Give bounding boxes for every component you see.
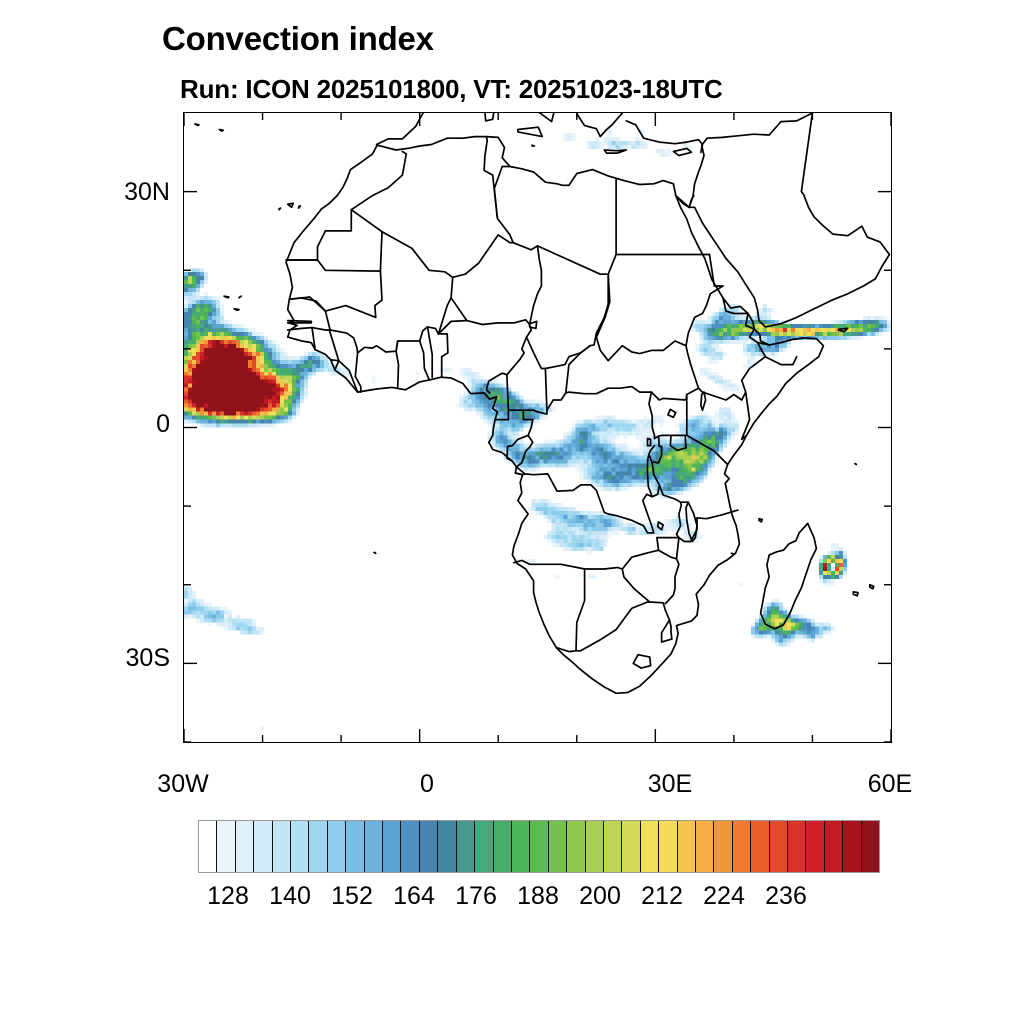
colorbar-segment-5[interactable] bbox=[291, 821, 309, 872]
colorbar-segment-31[interactable] bbox=[770, 821, 788, 872]
colorbar-segment-10[interactable] bbox=[383, 821, 401, 872]
colorbar-segment-34[interactable] bbox=[825, 821, 843, 872]
colorbar-segment-13[interactable] bbox=[438, 821, 456, 872]
colorbar-segment-20[interactable] bbox=[567, 821, 585, 872]
colorbar-segment-3[interactable] bbox=[254, 821, 272, 872]
x-tick-label-1: 0 bbox=[377, 770, 477, 799]
colorbar-segment-8[interactable] bbox=[346, 821, 364, 872]
x-tick-label-0: 30W bbox=[133, 770, 233, 799]
st-helena bbox=[374, 553, 376, 554]
figure-canvas: Convection index Run: ICON 2025101800, V… bbox=[0, 0, 1024, 1024]
x-tick-label-2: 30E bbox=[620, 770, 720, 799]
national-border-9 bbox=[331, 360, 339, 361]
colorbar-segment-18[interactable] bbox=[530, 821, 548, 872]
y-tick-label-0: 30N bbox=[80, 178, 170, 207]
colorbar-segment-26[interactable] bbox=[678, 821, 696, 872]
colorbar-segment-12[interactable] bbox=[420, 821, 438, 872]
malta bbox=[532, 145, 534, 146]
azores-1 bbox=[219, 130, 223, 132]
map-svg bbox=[184, 113, 891, 742]
convection-index-raster bbox=[184, 113, 891, 742]
colorbar-segment-1[interactable] bbox=[217, 821, 235, 872]
y-tick-label-2: 30S bbox=[80, 644, 170, 673]
colorbar-tick-labels: 128140152164176188200212224236 bbox=[198, 882, 880, 916]
colorbar-segment-33[interactable] bbox=[806, 821, 824, 872]
colorbar-segment-24[interactable] bbox=[641, 821, 659, 872]
colorbar-segment-6[interactable] bbox=[309, 821, 327, 872]
colorbar-segment-15[interactable] bbox=[475, 821, 493, 872]
colorbar[interactable] bbox=[198, 820, 880, 873]
colorbar-segment-22[interactable] bbox=[604, 821, 622, 872]
colorbar-segment-7[interactable] bbox=[328, 821, 346, 872]
mozambique-islet bbox=[732, 553, 734, 554]
seychelles bbox=[855, 464, 857, 465]
run-valid-time-subtitle: Run: ICON 2025101800, VT: 20251023-18UTC bbox=[180, 74, 723, 105]
x-tick-label-3: 60E bbox=[840, 770, 940, 799]
colorbar-segment-29[interactable] bbox=[733, 821, 751, 872]
colorbar-segment-17[interactable] bbox=[512, 821, 530, 872]
y-tick-label-1: 0 bbox=[80, 410, 170, 439]
colorbar-segment-4[interactable] bbox=[273, 821, 291, 872]
colorbar-segment-36[interactable] bbox=[862, 821, 879, 872]
colorbar-segment-28[interactable] bbox=[714, 821, 732, 872]
colorbar-tick-label-9: 236 bbox=[746, 882, 826, 911]
cape-verde-1 bbox=[234, 309, 239, 311]
page-title: Convection index bbox=[162, 20, 434, 58]
colorbar-segment-11[interactable] bbox=[401, 821, 419, 872]
colorbar-segment-2[interactable] bbox=[236, 821, 254, 872]
colorbar-segment-23[interactable] bbox=[622, 821, 640, 872]
canary-3 bbox=[279, 208, 281, 210]
colorbar-segment-16[interactable] bbox=[494, 821, 512, 872]
colorbar-segment-0[interactable] bbox=[199, 821, 217, 872]
colorbar-segment-14[interactable] bbox=[457, 821, 475, 872]
colorbar-segment-21[interactable] bbox=[586, 821, 604, 872]
colorbar-segment-32[interactable] bbox=[788, 821, 806, 872]
colorbar-segment-25[interactable] bbox=[659, 821, 677, 872]
map-plot-area[interactable] bbox=[183, 112, 892, 743]
colorbar-segment-27[interactable] bbox=[696, 821, 714, 872]
colorbar-segment-9[interactable] bbox=[365, 821, 383, 872]
colorbar-segment-30[interactable] bbox=[751, 821, 769, 872]
colorbar-segment-19[interactable] bbox=[549, 821, 567, 872]
colorbar-segment-35[interactable] bbox=[843, 821, 861, 872]
colorbar-segments[interactable] bbox=[198, 820, 880, 873]
convection-field-layer bbox=[184, 113, 891, 742]
